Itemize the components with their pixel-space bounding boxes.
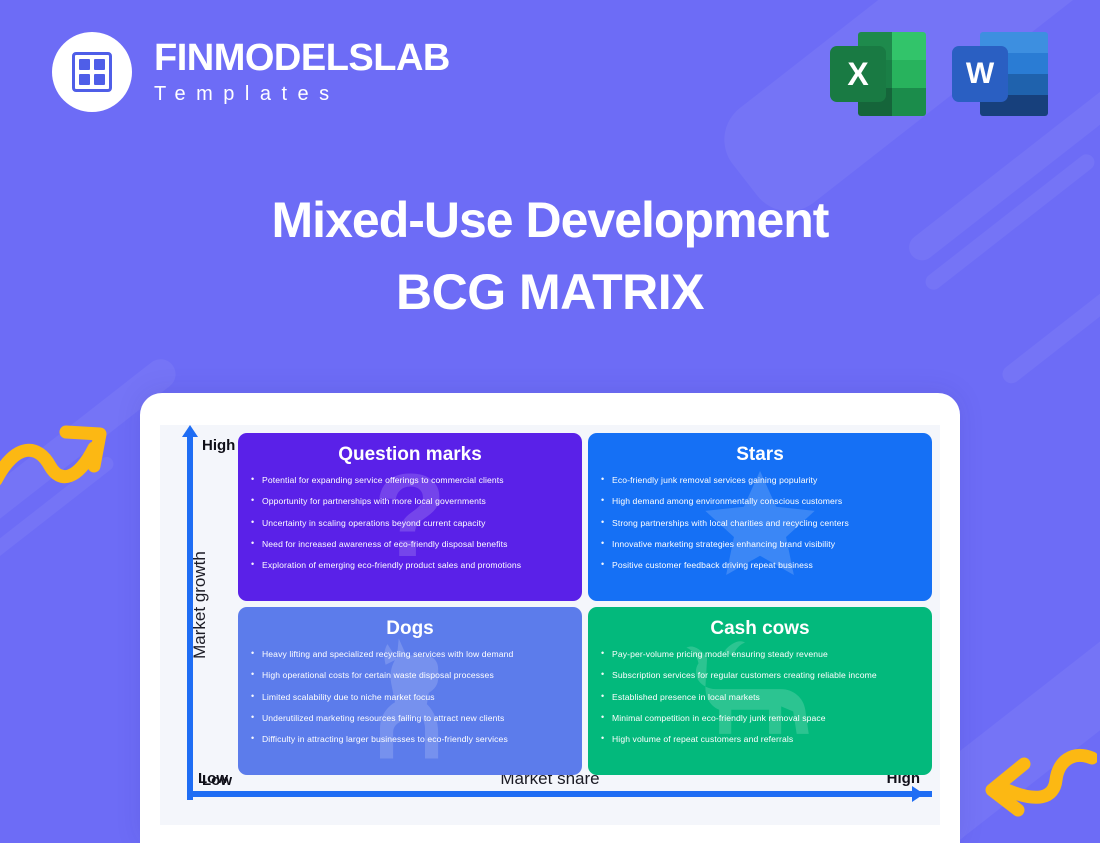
word-letter: W — [952, 46, 1008, 102]
quadrant-grid: ? Question marks Potential for expanding… — [238, 433, 932, 775]
list-item: Limited scalability due to niche market … — [250, 692, 570, 702]
format-icons: X W — [830, 28, 1048, 120]
list-item: Underutilized marketing resources failin… — [250, 713, 570, 723]
y-axis-label: Market growth — [190, 525, 210, 685]
list-item: Established presence in local markets — [600, 692, 920, 702]
list-item: Exploration of emerging eco-friendly pro… — [250, 560, 570, 570]
quadrant-bullet-list: Eco-friendly junk removal services gaini… — [600, 475, 920, 571]
quadrant-question-marks[interactable]: ? Question marks Potential for expanding… — [238, 433, 582, 601]
quadrant-title: Dogs — [250, 618, 570, 640]
list-item: Pay-per-volume pricing model ensuring st… — [600, 649, 920, 659]
title-line-2: BCG MATRIX — [0, 262, 1100, 322]
quadrant-bullet-list: Heavy lifting and specialized recycling … — [250, 649, 570, 745]
quadrant-bullet-list: Potential for expanding service offering… — [250, 475, 570, 571]
list-item: Innovative marketing strategies enhancin… — [600, 539, 920, 549]
list-item: Strong partnerships with local charities… — [600, 518, 920, 528]
list-item: Heavy lifting and specialized recycling … — [250, 649, 570, 659]
squiggly-arrow-up-right-icon — [0, 408, 124, 503]
squiggly-arrow-down-left-icon — [962, 736, 1097, 836]
y-axis-high-label: High — [202, 437, 235, 454]
list-item: Uncertainty in scaling operations beyond… — [250, 518, 570, 528]
list-item: Need for increased awareness of eco-frie… — [250, 539, 570, 549]
list-item: High demand among environmentally consci… — [600, 496, 920, 506]
quadrant-dogs[interactable]: Dogs Heavy lifting and specialized recyc… — [238, 607, 582, 775]
quadrant-title: Stars — [600, 444, 920, 466]
word-icon[interactable]: W — [952, 28, 1048, 120]
list-item: Eco-friendly junk removal services gaini… — [600, 475, 920, 485]
list-item: Opportunity for partnerships with more l… — [250, 496, 570, 506]
page-title: Mixed-Use Development BCG MATRIX — [0, 190, 1100, 322]
title-line-1: Mixed-Use Development — [0, 190, 1100, 250]
list-item: Potential for expanding service offering… — [250, 475, 570, 485]
list-item: Difficulty in attracting larger business… — [250, 734, 570, 744]
list-item: Positive customer feedback driving repea… — [600, 560, 920, 570]
page-header: FINMODELSLAB Templates X W — [0, 0, 1100, 150]
quadrant-cash-cows[interactable]: Cash cows Pay-per-volume pricing model e… — [588, 607, 932, 775]
excel-letter: X — [830, 46, 886, 102]
list-item: High volume of repeat customers and refe… — [600, 734, 920, 744]
logo-badge — [52, 32, 132, 112]
quadrant-stars[interactable]: Stars Eco-friendly junk removal services… — [588, 433, 932, 601]
excel-icon[interactable]: X — [830, 28, 926, 120]
x-axis-line — [187, 791, 932, 797]
brand-subtitle: Templates — [154, 83, 450, 106]
matrix-card: High Low Market growth Low High Market s… — [140, 393, 960, 843]
list-item: Subscription services for regular custom… — [600, 670, 920, 680]
brand-logo[interactable]: FINMODELSLAB Templates — [52, 32, 450, 112]
quadrant-bullet-list: Pay-per-volume pricing model ensuring st… — [600, 649, 920, 745]
list-item: Minimal competition in eco-friendly junk… — [600, 713, 920, 723]
grid-square-icon — [72, 52, 112, 92]
quadrant-title: Question marks — [250, 444, 570, 466]
list-item: High operational costs for certain waste… — [250, 670, 570, 680]
quadrant-title: Cash cows — [600, 618, 920, 640]
bcg-matrix: High Low Market growth Low High Market s… — [160, 425, 940, 825]
brand-name: FINMODELSLAB — [154, 39, 450, 77]
